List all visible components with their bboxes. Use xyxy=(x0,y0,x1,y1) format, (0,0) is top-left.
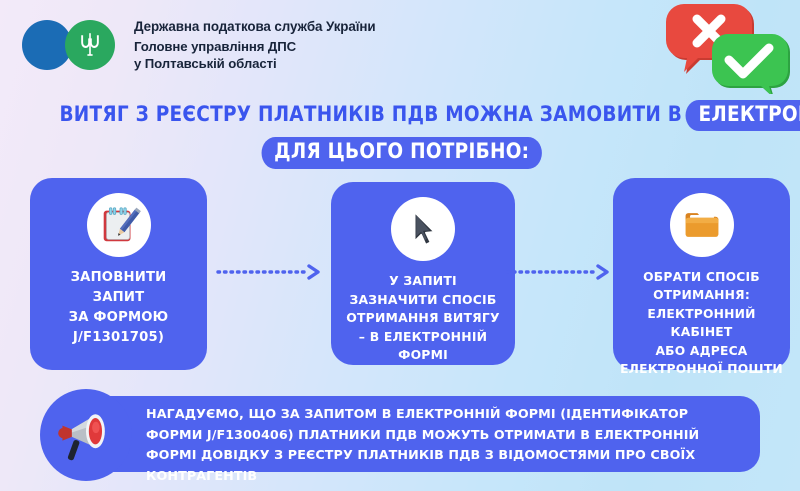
step-card-1-text: заповнити запит за формою J/F1301705) xyxy=(64,268,174,348)
step-card-3[interactable]: обрати спосіб отримання: електронний каб… xyxy=(613,178,790,370)
page-title: Витяг з реєстру платників ПДВ можна замо… xyxy=(0,100,800,169)
reminder-banner-text: Нагадуємо, що за запитом в електронній ф… xyxy=(146,404,746,486)
step-card-2-text: у запиті зазначити спосіб отримання витя… xyxy=(341,272,504,365)
step-card-2[interactable]: у запиті зазначити спосіб отримання витя… xyxy=(331,182,515,365)
step-card-3-text: обрати спосіб отримання: електронний каб… xyxy=(613,268,790,379)
title-line-2: для цього потрібно: xyxy=(56,137,744,168)
org-line-3: у Полтавській області xyxy=(134,56,376,73)
step-card-1[interactable]: заповнити запит за формою J/F1301705) xyxy=(30,178,207,370)
title-pill-steps-intro: для цього потрібно: xyxy=(261,137,542,168)
mouse-cursor-icon xyxy=(391,197,455,261)
trident-icon xyxy=(79,32,101,58)
megaphone-icon xyxy=(40,389,132,481)
folder-icon xyxy=(670,193,734,257)
green-circle-trident-logo xyxy=(65,20,115,70)
agency-logo xyxy=(22,16,120,74)
title-line-1: Витяг з реєстру платників ПДВ можна замо… xyxy=(56,100,744,131)
org-line-1: Державна податкова служба України xyxy=(134,18,376,35)
org-line-2: Головне управління ДПС xyxy=(134,39,376,56)
accept-speech-bubble-icon xyxy=(712,34,790,94)
title-line-1-text: Витяг з реєстру платників ПДВ можна замо… xyxy=(59,102,682,127)
dotted-arrow-right-icon xyxy=(216,263,328,281)
notepad-pencil-icon xyxy=(87,193,151,257)
dotted-arrow-right-icon xyxy=(505,263,617,281)
header: Державна податкова служба України Головн… xyxy=(22,16,376,74)
decorative-speech-bubbles xyxy=(664,2,792,94)
agency-name-block: Державна податкова служба України Головн… xyxy=(134,18,376,73)
title-pill-electronic-form: електронній формі xyxy=(686,100,800,131)
